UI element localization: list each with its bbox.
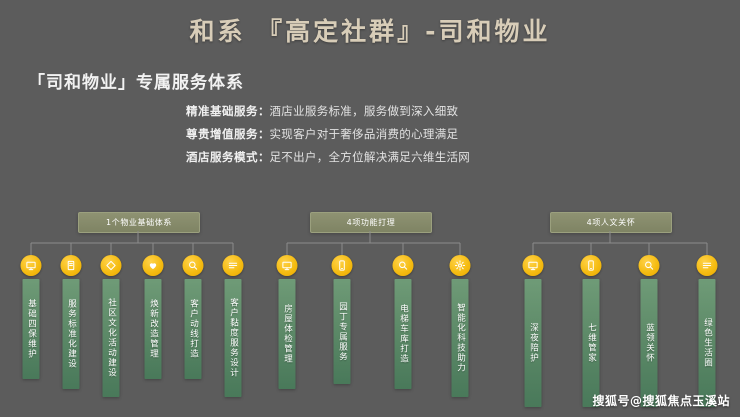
group-header-box[interactable]: 4项人文关怀 bbox=[550, 212, 672, 233]
service-item-card[interactable]: 基础四保维护 bbox=[23, 279, 40, 379]
service-item-label: 房屋体检管理 bbox=[282, 304, 293, 364]
service-item-label: 电梯车库打造 bbox=[398, 304, 409, 364]
gear-icon[interactable] bbox=[450, 255, 471, 276]
section-subtitle: 「司和物业」专属服务体系 bbox=[28, 68, 244, 93]
search-icon[interactable] bbox=[183, 255, 204, 276]
service-item-card[interactable]: 房屋体检管理 bbox=[279, 279, 296, 389]
monitor-icon[interactable] bbox=[21, 255, 42, 276]
service-item-card[interactable]: 客户动线打造 bbox=[185, 279, 202, 379]
service-item-card[interactable]: 蓝领关怀 bbox=[641, 279, 658, 407]
service-item-card[interactable]: 服务标准化建设 bbox=[63, 279, 80, 389]
service-item-card[interactable]: 社区文化活动建设 bbox=[103, 279, 120, 397]
service-description-colon: ： bbox=[258, 104, 270, 118]
service-description-colon: ： bbox=[258, 127, 270, 141]
search-icon[interactable] bbox=[639, 255, 660, 276]
service-item-label: 服务标准化建设 bbox=[66, 299, 77, 369]
group-header-box[interactable]: 1个物业基础体系 bbox=[78, 212, 200, 233]
service-item-card[interactable]: 焕新改造管理 bbox=[145, 279, 162, 379]
service-description-text: 足不出户，全方位解决满足六维生活网 bbox=[270, 150, 471, 164]
monitor-icon[interactable] bbox=[277, 255, 298, 276]
service-item-card[interactable]: 深夜陪护 bbox=[525, 279, 542, 407]
service-item-label: 深夜陪护 bbox=[528, 323, 539, 363]
service-item-label: 智能化科技助力 bbox=[455, 303, 466, 373]
service-description-colon: ： bbox=[258, 150, 270, 164]
service-description-row: 酒店服务模式：足不出户，全方位解决满足六维生活网 bbox=[186, 150, 656, 164]
service-item-card[interactable]: 七维管家 bbox=[583, 279, 600, 407]
mobile-icon[interactable] bbox=[581, 255, 602, 276]
document-icon[interactable] bbox=[61, 255, 82, 276]
service-item-card[interactable]: 客户黏度服务设计 bbox=[225, 279, 242, 397]
service-item-label: 客户动线打造 bbox=[188, 299, 199, 359]
service-item-label: 客户黏度服务设计 bbox=[228, 298, 239, 378]
group-header-box[interactable]: 4项功能打理 bbox=[310, 212, 432, 233]
service-item-card[interactable]: 园丁专属服务 bbox=[334, 279, 351, 384]
monitor-icon[interactable] bbox=[523, 255, 544, 276]
service-item-card[interactable]: 绿色生活圈 bbox=[699, 279, 716, 407]
service-item-label: 蓝领关怀 bbox=[644, 323, 655, 363]
service-item-label: 基础四保维护 bbox=[26, 299, 37, 359]
page-title: 和系 『高定社群』-司和物业 bbox=[0, 12, 740, 48]
service-item-card[interactable]: 智能化科技助力 bbox=[452, 279, 469, 397]
service-description-label: 酒店服务模式 bbox=[186, 150, 258, 164]
search-icon[interactable] bbox=[393, 255, 414, 276]
service-description-text: 实现客户对于奢侈品消费的心理满足 bbox=[270, 127, 459, 141]
service-description-row: 精准基础服务：酒店业服务标准，服务做到深入细致 bbox=[186, 104, 656, 118]
group-header-label: 4项功能打理 bbox=[347, 217, 396, 228]
mobile-icon[interactable] bbox=[332, 255, 353, 276]
slide-canvas: 和系 『高定社群』-司和物业 「司和物业」专属服务体系 精准基础服务：酒店业服务… bbox=[0, 0, 740, 417]
list-icon[interactable] bbox=[697, 255, 718, 276]
service-description-label: 精准基础服务 bbox=[186, 104, 258, 118]
service-item-label: 焕新改造管理 bbox=[148, 299, 159, 359]
service-item-label: 绿色生活圈 bbox=[702, 318, 713, 368]
service-item-card[interactable]: 电梯车库打造 bbox=[395, 279, 412, 389]
group-header-label: 1个物业基础体系 bbox=[106, 217, 172, 228]
service-description-text: 酒店业服务标准，服务做到深入细致 bbox=[270, 104, 459, 118]
watermark: 搜狐号@搜狐焦点玉溪站 bbox=[592, 392, 730, 409]
service-description-list: 精准基础服务：酒店业服务标准，服务做到深入细致尊贵增值服务：实现客户对于奢侈品消… bbox=[186, 104, 656, 173]
diamond-icon[interactable] bbox=[101, 255, 122, 276]
service-item-label: 七维管家 bbox=[586, 323, 597, 363]
service-description-label: 尊贵增值服务 bbox=[186, 127, 258, 141]
heart-icon[interactable] bbox=[143, 255, 164, 276]
service-item-label: 园丁专属服务 bbox=[337, 302, 348, 362]
list-icon[interactable] bbox=[223, 255, 244, 276]
service-item-label: 社区文化活动建设 bbox=[106, 298, 117, 378]
group-header-label: 4项人文关怀 bbox=[587, 217, 636, 228]
service-description-row: 尊贵增值服务：实现客户对于奢侈品消费的心理满足 bbox=[186, 127, 656, 141]
service-tree: 1个物业基础体系基础四保维护服务标准化建设社区文化活动建设焕新改造管理客户动线打… bbox=[0, 205, 740, 405]
